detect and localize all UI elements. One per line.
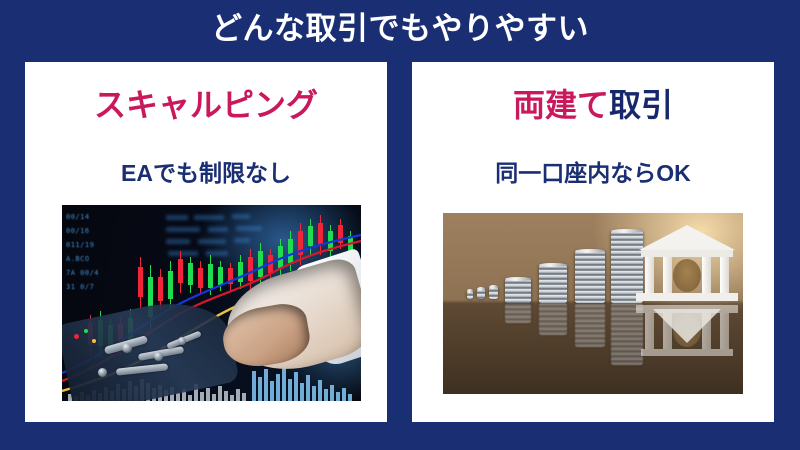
card-scalping-heading: スキャルピング bbox=[25, 84, 387, 126]
card-scalping-heading-segment-1: スキャルピング bbox=[94, 87, 318, 123]
card-hedging-heading-segment-1: 両建て bbox=[513, 87, 609, 123]
card-hedging-heading-segment-2: 取引 bbox=[609, 87, 673, 123]
coin-stack-3 bbox=[575, 251, 605, 303]
bank-roof-reflection bbox=[653, 309, 721, 343]
card-hedging: 両建て取引 同一口座内ならOK bbox=[412, 62, 774, 422]
card-hedging-subheading: 同一口座内ならOK bbox=[412, 158, 774, 188]
coin-stack-2 bbox=[539, 265, 567, 303]
page-title: どんな取引でもやりやすい bbox=[0, 8, 800, 50]
card-scalping: スキャルピング EAでも制限なし 00/14 00/16 011/19 A.BC… bbox=[25, 62, 387, 422]
trading-handshake-photo: 00/14 00/16 011/19 A.BCO 7A 00/4 31 0/7 bbox=[62, 205, 361, 401]
coin-stack-1 bbox=[505, 279, 531, 303]
card-hedging-heading: 両建て取引 bbox=[412, 84, 774, 126]
card-scalping-subheading: EAでも制限なし bbox=[25, 158, 387, 188]
coins-bank-photo bbox=[443, 213, 743, 394]
bank-building bbox=[639, 225, 735, 303]
slide-root: どんな取引でもやりやすい スキャルピング EAでも制限なし 00/14 00/1… bbox=[0, 0, 800, 450]
